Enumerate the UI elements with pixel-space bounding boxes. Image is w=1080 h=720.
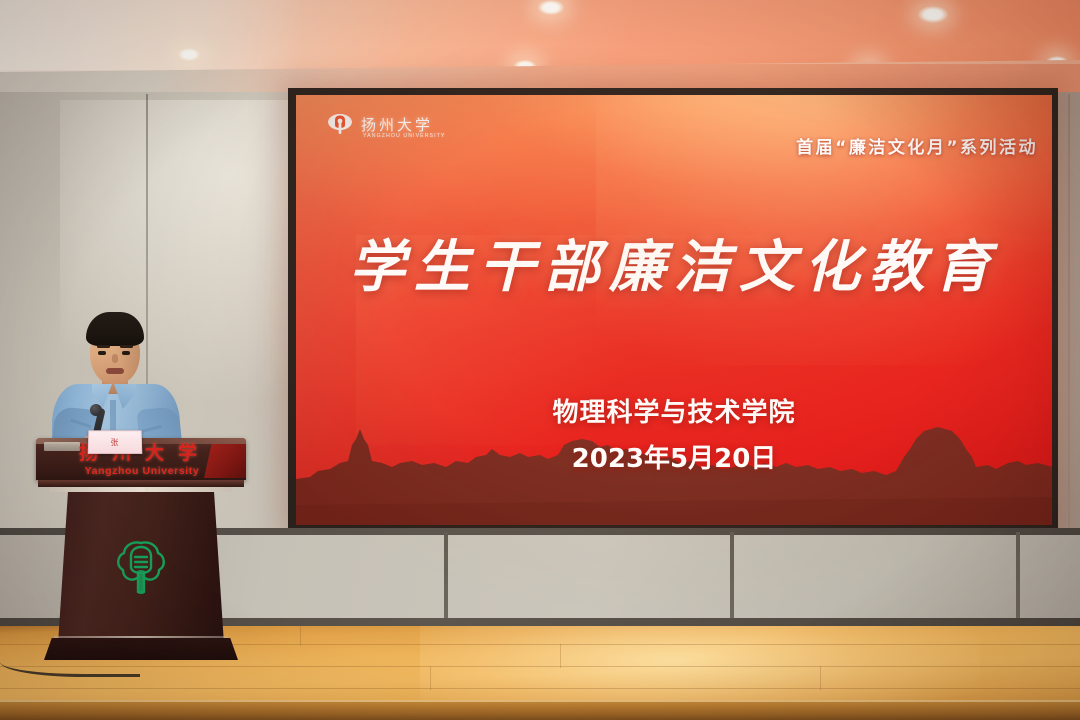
floor-plank-line xyxy=(0,688,1080,689)
floor-plank-joint xyxy=(560,644,561,668)
speaker-eyebrow xyxy=(120,345,133,348)
podium-tree-emblem-icon xyxy=(111,536,171,598)
speaker-nose xyxy=(112,354,118,363)
ceiling-downlight xyxy=(538,0,564,15)
speaker-hair xyxy=(86,312,144,346)
ceiling-downlight xyxy=(178,48,200,61)
podium-university-name-en: Yangzhou University xyxy=(62,466,222,477)
screen-vignette xyxy=(296,95,1052,525)
name-card-text: 张 xyxy=(110,437,119,448)
floor-plank-joint xyxy=(430,666,431,690)
podium-base xyxy=(44,638,238,660)
speaker-mouth xyxy=(106,368,124,374)
microphone-head-icon xyxy=(90,404,102,416)
speaker-eye xyxy=(98,351,106,355)
stage-edge-highlight xyxy=(0,700,1080,702)
speaker-eyebrow xyxy=(97,345,110,348)
floor-plank-joint xyxy=(300,626,301,646)
projection-screen: 扬州大学 YANGZHOU UNIVERSITY 首届“廉洁文化月”系列活动 学… xyxy=(296,95,1052,525)
stage-edge xyxy=(0,700,1080,720)
podium-trim-band xyxy=(50,487,232,492)
lower-panel-seam xyxy=(1016,532,1020,618)
lower-panel-seam xyxy=(444,532,448,618)
podium: 扬州大学 Yangzhou University 张 xyxy=(36,438,246,676)
floor-plank-joint xyxy=(820,666,821,690)
ceiling-downlight xyxy=(918,6,948,23)
speaker-eye xyxy=(122,351,130,355)
speaker-name-card: 张 xyxy=(88,430,143,454)
lower-panel-seam xyxy=(730,532,734,618)
podium-lip xyxy=(38,480,244,487)
ceiling-light-falloff xyxy=(0,0,300,70)
lecture-hall-photograph: 扬州大学 YANGZHOU UNIVERSITY 首届“廉洁文化月”系列活动 学… xyxy=(0,0,1080,720)
